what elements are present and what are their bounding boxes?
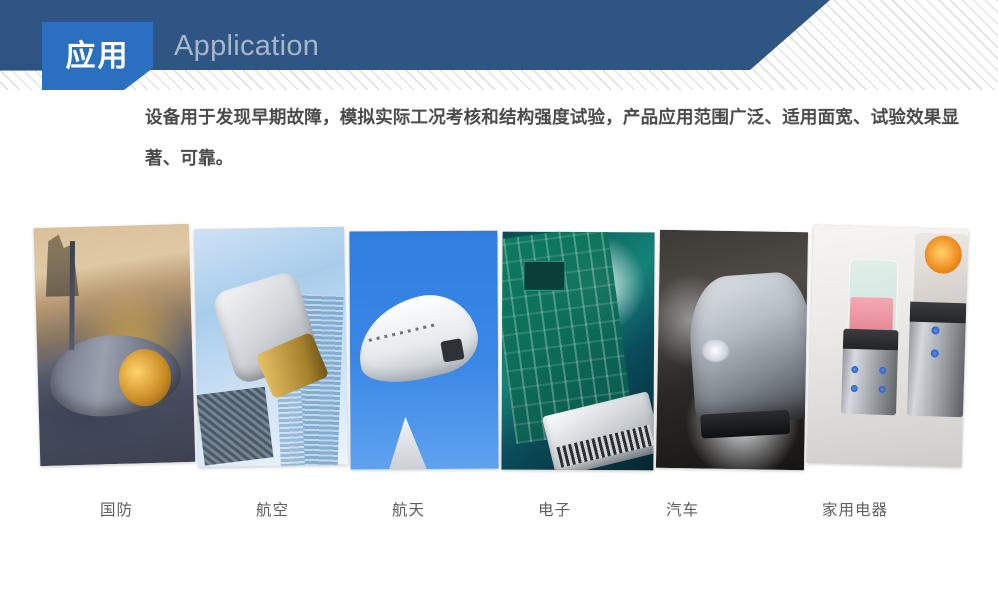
caption-electronics: 电子 [538, 498, 571, 520]
pcb-chip-shape [524, 260, 566, 291]
silver-car-headlights-image [656, 230, 808, 471]
gallery-panel-aviation[interactable] [194, 227, 348, 468]
satellite-over-city-skyline-image [194, 227, 348, 468]
image-gallery-strip [0, 200, 998, 500]
gallery-panel-appliances[interactable] [807, 225, 969, 467]
green-circuit-board-connector-image [501, 232, 654, 471]
gallery-panel-aerospace[interactable] [349, 231, 498, 470]
car-headlight-glow [702, 340, 729, 362]
solar-panel-array [196, 387, 273, 466]
aircraft-tail-shape [386, 417, 431, 470]
caption-defense: 国防 [100, 498, 133, 520]
section-title-cn: 应用 [42, 22, 153, 84]
kitchen-blender-appliances-image [807, 225, 969, 467]
gallery-panel-electronics[interactable] [501, 232, 654, 471]
carrier-tower-shape [40, 234, 82, 297]
blender-base-a [841, 338, 899, 416]
gallery-panel-defense[interactable] [34, 224, 196, 466]
section-header: 应用 Application [0, 0, 998, 100]
caption-automotive: 汽车 [666, 498, 699, 520]
blender-button-b1 [931, 326, 939, 334]
fighter-jet-on-aircraft-carrier-image [34, 224, 196, 466]
gallery-caption-row: 国防 航空 航天 电子 汽车 家用电器 [0, 498, 998, 538]
section-title-en: Application [174, 30, 319, 63]
application-section: 应用 Application 设备用于发现早期故障，模拟实际工况考核和结构强度试… [0, 0, 998, 601]
gallery-panel-automotive[interactable] [656, 230, 808, 471]
car-grill-shape [701, 410, 791, 438]
airliner-nose-in-blue-sky-image [349, 231, 498, 470]
caption-aerospace: 航天 [392, 498, 425, 520]
intro-paragraph: 设备用于发现早期故障，模拟实际工况考核和结构强度试验，产品应用范围广泛、适用面宽… [145, 98, 973, 180]
caption-aviation: 航空 [256, 498, 289, 520]
blender-base-b [907, 301, 966, 417]
caption-appliances: 家用电器 [822, 498, 888, 520]
